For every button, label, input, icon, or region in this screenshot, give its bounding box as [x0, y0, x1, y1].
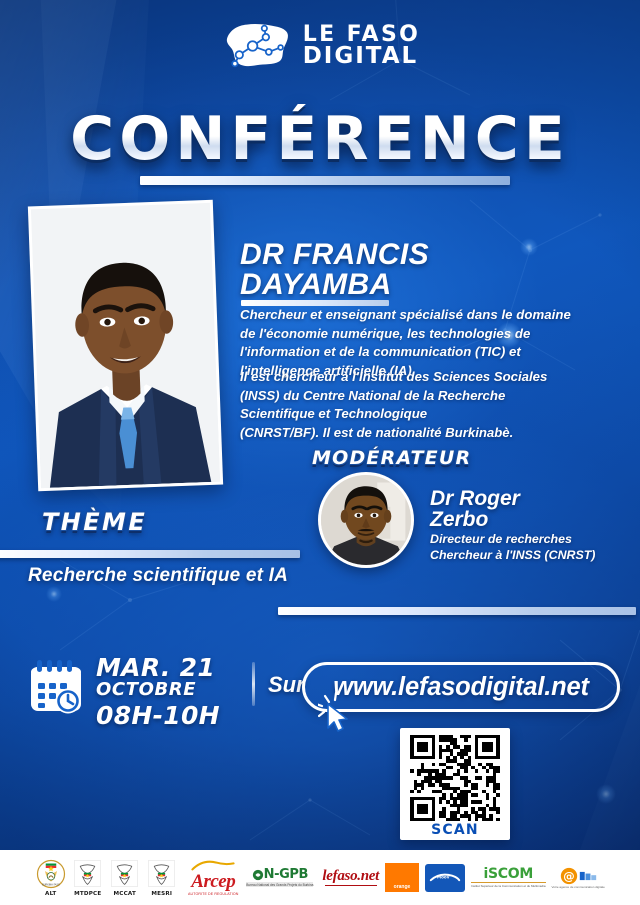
speaker-name: DR FRANCIS DAYAMBA: [240, 240, 630, 300]
ongpb-mark-icon: [252, 869, 264, 881]
partner-logo-orange: orange: [385, 863, 419, 892]
svg-text:BURKINA FASO: BURKINA FASO: [42, 883, 60, 886]
burkina-faso-network-map-icon: [220, 18, 294, 74]
partner-subtitle: AUTORITE DE REGULATION: [188, 892, 238, 896]
moov-swoosh-icon: Moov: [429, 871, 461, 884]
partner-caption: ALT: [45, 891, 56, 897]
underline-decoration: [325, 885, 377, 886]
partner-subtitle: Bureau National des Grands Projets du Bu…: [246, 882, 313, 887]
on-label: Sur: [268, 672, 305, 698]
partner-name: lefaso.net: [322, 869, 379, 884]
glow-dot: [596, 784, 616, 804]
partner-logo-mtdpce: MTDPCE: [72, 858, 103, 897]
partner-logo-mccat: MCCAT: [109, 858, 140, 897]
speaker-photo: [28, 200, 223, 492]
title-divider: [140, 176, 510, 185]
glow-dot: [46, 586, 62, 602]
moderator-badge: MODÉRATEUR: [312, 447, 471, 469]
logo-line-2: DIGITAL: [303, 46, 421, 67]
partner-logos-bar: BURKINA FASO ALT MTDPCE: [0, 850, 640, 905]
conference-poster: LE FASO DIGITAL CONFÉRENCE: [0, 0, 640, 905]
partner-subtitle: Votre agence de communication digitale: [552, 885, 605, 889]
crest-icon: [72, 858, 103, 889]
partner-subtitle: Institut Supérieur de la Communication e…: [471, 882, 546, 888]
section-divider: [278, 607, 636, 615]
partner-logo-arcep: Arcep AUTORITE DE REGULATION: [186, 860, 240, 896]
speaker-bio-part2: Il est chercheur à l'Institut des Scienc…: [240, 368, 632, 442]
click-cursor-icon: [318, 692, 352, 732]
partner-name: N-GPB: [264, 868, 308, 881]
partner-name: Arcep: [191, 872, 235, 891]
partner-logo-ongpb: N-GPB Bureau National des Grands Projets…: [246, 868, 313, 887]
partner-name: iSCOM: [484, 867, 534, 881]
partner-caption: MTDPCE: [74, 891, 101, 897]
partner-logo-at: @ Votre agence de communication digitale: [552, 867, 605, 889]
crest-icon: [109, 858, 140, 889]
moderator-role: Directeur de recherches Chercheur à l'IN…: [430, 532, 640, 563]
partner-logo-mesri: MESRI: [146, 858, 177, 897]
moderator-name: Dr Roger Zerbo: [430, 488, 640, 531]
qr-code-card[interactable]: SCAN: [400, 728, 510, 840]
event-time: 08H-10H: [96, 702, 246, 730]
partner-caption: MESRI: [151, 891, 172, 897]
partner-caption: MCCAT: [114, 891, 137, 897]
bars-icon: [579, 870, 597, 882]
event-date-block: MAR. 21 OCTOBRE 08H-10H: [96, 655, 246, 730]
partner-logo-iscom: iSCOM Institut Supérieur de la Communica…: [471, 867, 546, 889]
partner-logo-moov: Moov: [425, 864, 465, 892]
moderator-photo: [318, 472, 414, 568]
event-date-month: OCTOBRE: [96, 680, 246, 700]
partner-logo-lefasonet: lefaso.net: [322, 869, 379, 886]
theme-badge: THÈME: [42, 508, 147, 536]
qr-code-icon: [410, 735, 500, 821]
at-sign-icon: @: [560, 867, 578, 885]
arcep-swoosh-icon: [186, 860, 240, 872]
brand-logo: LE FASO DIGITAL: [0, 18, 640, 74]
crest-icon: [146, 858, 177, 889]
event-date-day: MAR. 21: [96, 655, 246, 680]
partner-name: orange: [394, 884, 411, 892]
calendar-clock-icon: [28, 658, 84, 714]
theme-text: Recherche scientifique et IA: [28, 565, 358, 587]
svg-text:Moov: Moov: [437, 874, 450, 879]
theme-divider: [0, 550, 300, 558]
page-title: CONFÉRENCE: [0, 104, 640, 174]
vertical-separator: [252, 662, 255, 706]
svg-text:@: @: [563, 869, 574, 883]
crest-icon: BURKINA FASO: [35, 858, 66, 889]
qr-scan-label: SCAN: [431, 822, 479, 838]
website-url-text: www.lefasodigital.net: [333, 673, 589, 702]
partner-logo-alt: BURKINA FASO ALT: [35, 858, 66, 897]
